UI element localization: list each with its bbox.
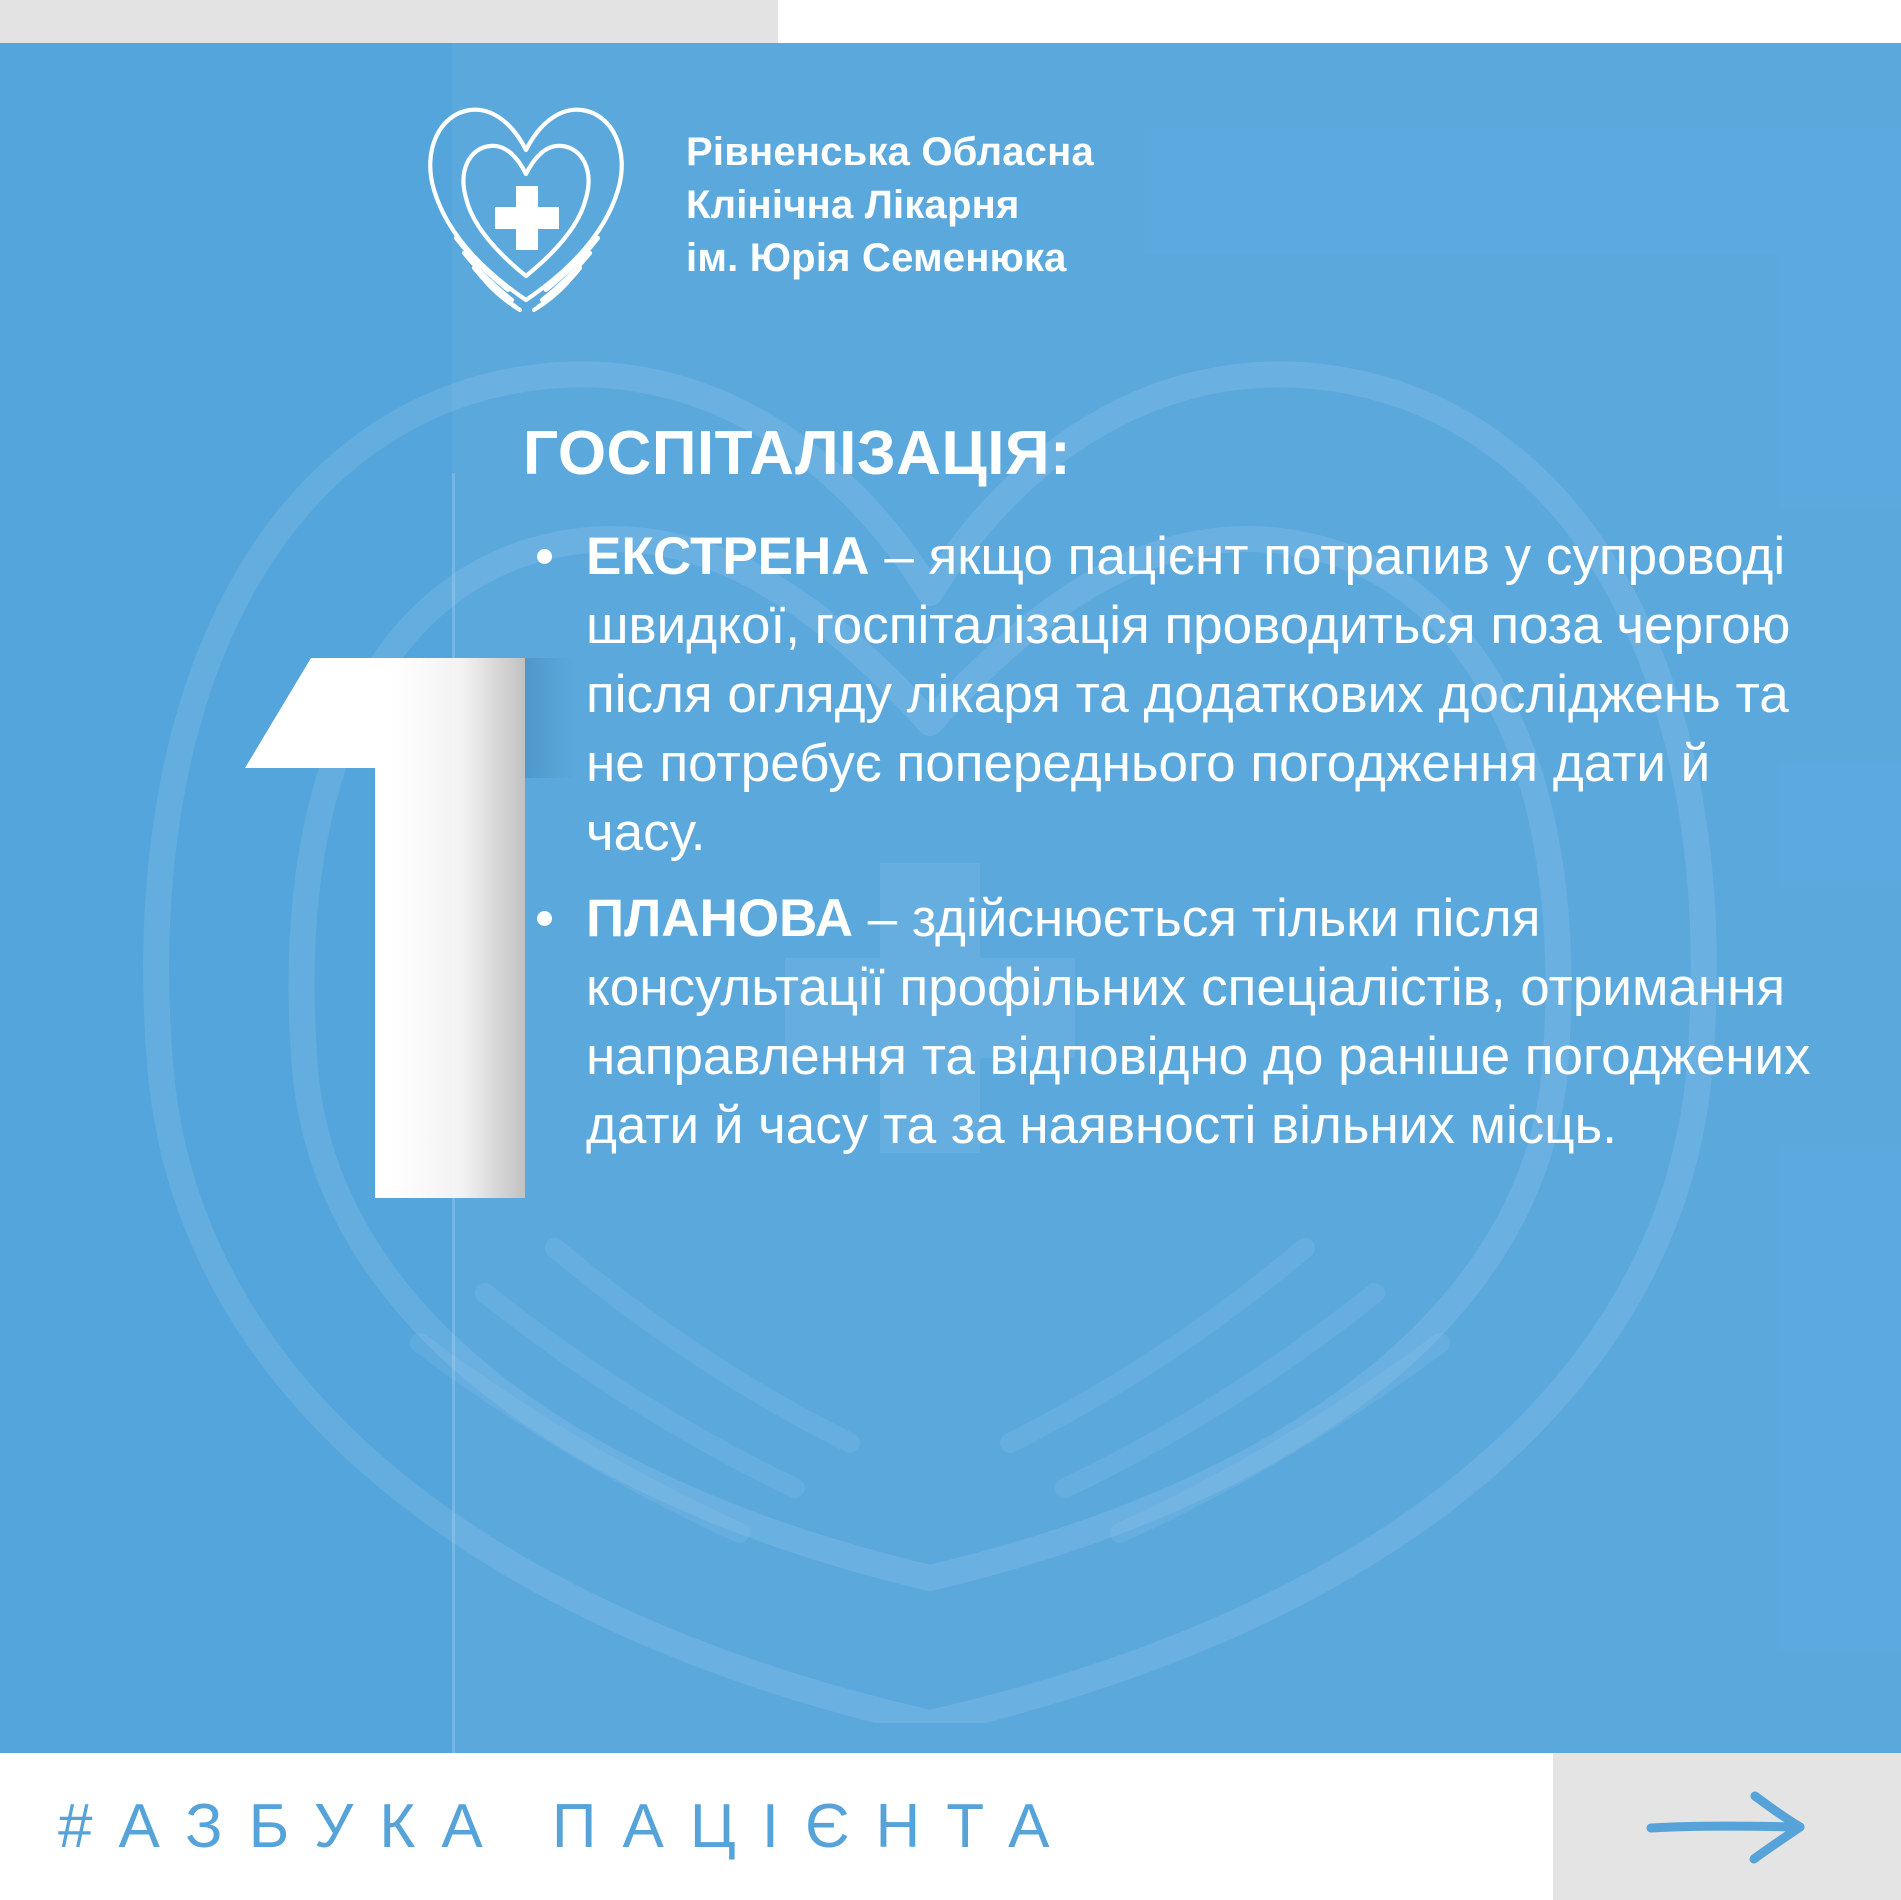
campaign-hashtag: #АЗБУКА ПАЦІЄНТА: [58, 1753, 1075, 1900]
bullet-dot-icon: [537, 911, 552, 926]
brand-header: Рівненська Обласна Клінічна Лікарня ім. …: [408, 98, 1094, 313]
hospitalization-types-list: ЕКСТРЕНА – якщо пацієнт потрапив у супро…: [523, 523, 1833, 1161]
slide-canvas: Рівненська Обласна Клінічна Лікарня ім. …: [0, 43, 1901, 1753]
next-slide-button[interactable]: [1553, 1753, 1901, 1900]
arrow-right-icon: [1637, 1787, 1817, 1867]
bullet-dot-icon: [537, 549, 552, 564]
slide-content: ГОСПІТАЛІЗАЦІЯ: ЕКСТРЕНА – якщо пацієнт …: [523, 418, 1833, 1179]
page-title: ГОСПІТАЛІЗАЦІЯ:: [523, 418, 1833, 489]
top-gray-strip: [0, 0, 778, 43]
footer-bar: #АЗБУКА ПАЦІЄНТА: [0, 1753, 1901, 1900]
top-white-strip: [778, 0, 1901, 43]
bullet-term: ПЛАНОВА: [586, 889, 853, 948]
hands-heart-cross-icon: [408, 98, 648, 313]
poster-card: Рівненська Обласна Клінічна Лікарня ім. …: [0, 0, 1901, 1900]
list-item: ЕКСТРЕНА – якщо пацієнт потрапив у супро…: [523, 523, 1833, 867]
brand-name: Рівненська Обласна Клінічна Лікарня ім. …: [686, 126, 1094, 284]
list-item: ПЛАНОВА – здійснюється тільки після конс…: [523, 885, 1833, 1161]
bullet-term: ЕКСТРЕНА: [586, 527, 870, 586]
content-panel-edge: [452, 473, 455, 1753]
